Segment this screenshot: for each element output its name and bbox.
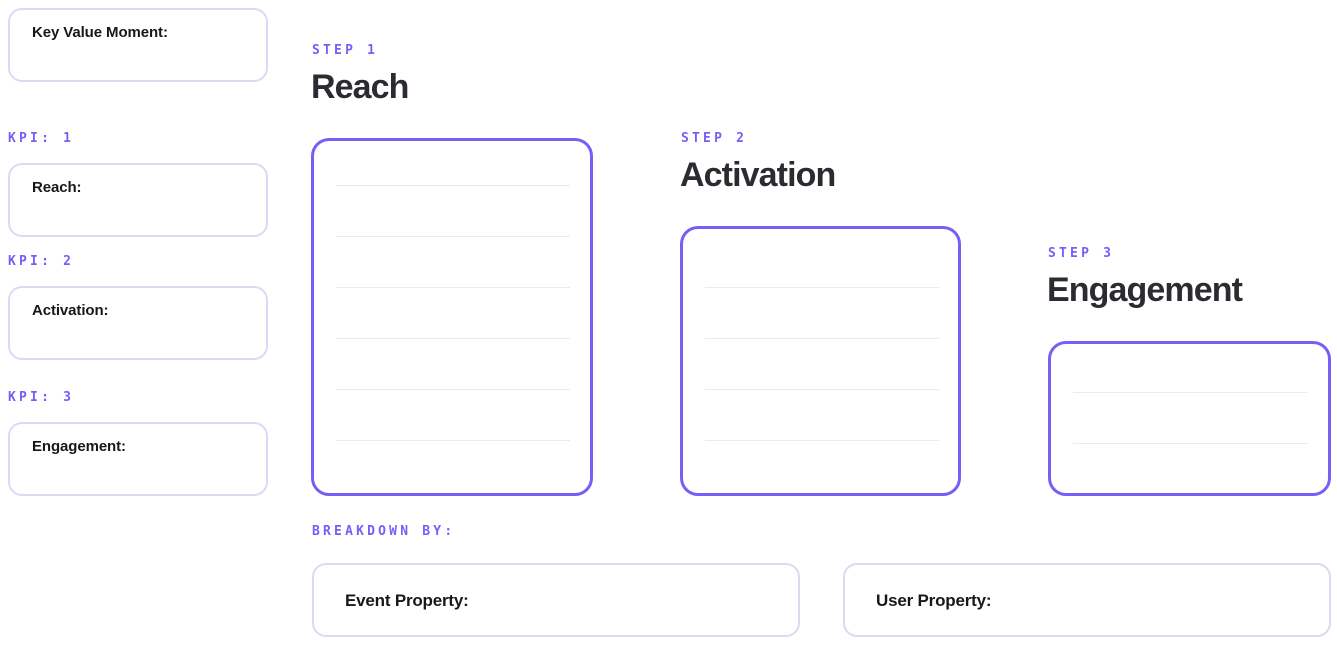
event-property-label: Event Property: bbox=[345, 591, 469, 611]
key-value-moment-card[interactable]: Key Value Moment: bbox=[8, 8, 268, 82]
step-2-title: Activation bbox=[680, 158, 835, 192]
step-3-title: Engagement bbox=[1047, 273, 1242, 307]
breakdown-eyebrow: BREAKDOWN BY: bbox=[312, 524, 455, 539]
note-rule bbox=[336, 236, 570, 237]
key-value-moment-label: Key Value Moment: bbox=[32, 24, 168, 41]
note-rule bbox=[705, 440, 939, 441]
note-rule bbox=[705, 389, 939, 390]
step-3-eyebrow: STEP 3 bbox=[1048, 246, 1114, 261]
kpi-1-label: Reach: bbox=[32, 179, 81, 196]
kpi-2-eyebrow: KPI: 2 bbox=[8, 254, 74, 269]
note-rule bbox=[336, 338, 570, 339]
kpi-3-card[interactable]: Engagement: bbox=[8, 422, 268, 496]
step-2-eyebrow: STEP 2 bbox=[681, 131, 747, 146]
kpi-1-card[interactable]: Reach: bbox=[8, 163, 268, 237]
note-rule bbox=[336, 389, 570, 390]
kpi-2-card[interactable]: Activation: bbox=[8, 286, 268, 360]
note-rule bbox=[1073, 392, 1307, 393]
kpi-1-eyebrow: KPI: 1 bbox=[8, 131, 74, 146]
step-1-note-card[interactable] bbox=[311, 138, 593, 496]
note-rule bbox=[705, 338, 939, 339]
note-rule bbox=[336, 287, 570, 288]
note-rule bbox=[1073, 443, 1307, 444]
step-1-eyebrow: STEP 1 bbox=[312, 43, 378, 58]
kpi-2-label: Activation: bbox=[32, 302, 108, 319]
worksheet-canvas: Key Value Moment: KPI: 1 Reach: KPI: 2 A… bbox=[0, 0, 1337, 646]
step-3-note-card[interactable] bbox=[1048, 341, 1331, 496]
user-property-card[interactable]: User Property: bbox=[843, 563, 1331, 637]
note-rule bbox=[336, 440, 570, 441]
note-rule bbox=[705, 287, 939, 288]
event-property-card[interactable]: Event Property: bbox=[312, 563, 800, 637]
step-2-note-card[interactable] bbox=[680, 226, 961, 496]
user-property-label: User Property: bbox=[876, 591, 991, 611]
kpi-3-eyebrow: KPI: 3 bbox=[8, 390, 74, 405]
step-1-title: Reach bbox=[311, 70, 409, 104]
kpi-3-label: Engagement: bbox=[32, 438, 126, 455]
note-rule bbox=[336, 185, 570, 186]
